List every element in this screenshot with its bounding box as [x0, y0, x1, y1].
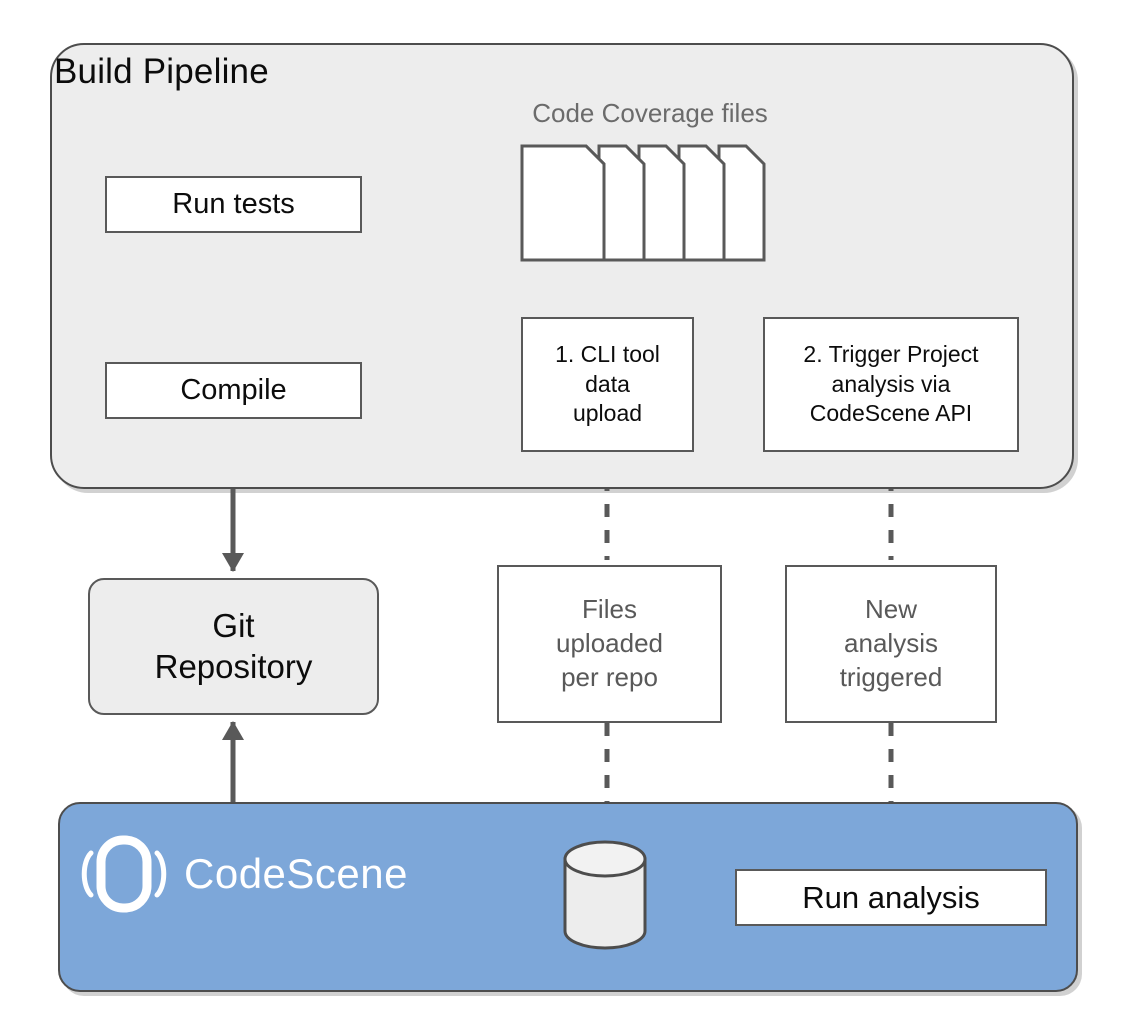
codescene-brand: CodeScene — [78, 828, 408, 920]
node-run-tests[interactable]: Run tests — [105, 176, 362, 233]
node-trigger-project-analysis[interactable]: 2. Trigger Project analysis via CodeScen… — [763, 317, 1019, 452]
codescene-ring-logo-icon — [78, 833, 170, 915]
database-cylinder-icon — [562, 840, 648, 950]
node-trigger-project-analysis-label: 2. Trigger Project analysis via CodeScen… — [803, 340, 978, 430]
node-files-uploaded-per-repo: Files uploaded per repo — [497, 565, 722, 723]
codescene-brand-label: CodeScene — [184, 850, 408, 898]
node-git-repository[interactable]: Git Repository — [88, 578, 379, 715]
node-compile-label: Compile — [180, 374, 286, 407]
node-new-analysis-triggered-label: New analysis triggered — [840, 593, 943, 694]
node-git-repository-label: Git Repository — [155, 606, 313, 688]
node-run-analysis-label: Run analysis — [802, 880, 979, 916]
node-new-analysis-triggered: New analysis triggered — [785, 565, 997, 723]
node-run-analysis[interactable]: Run analysis — [735, 869, 1047, 926]
node-cli-tool-upload-label: 1. CLI tool data upload — [555, 340, 660, 430]
node-cli-tool-upload[interactable]: 1. CLI tool data upload — [521, 317, 694, 452]
build-pipeline-title: Build Pipeline — [54, 52, 269, 92]
code-coverage-files-label: Code Coverage files — [505, 98, 795, 129]
code-coverage-files-stack-icon — [518, 144, 768, 262]
node-files-uploaded-per-repo-label: Files uploaded per repo — [556, 593, 663, 694]
diagram-canvas: Build Pipeline Code Coverage files Run t… — [0, 0, 1134, 1036]
node-compile[interactable]: Compile — [105, 362, 362, 419]
node-run-tests-label: Run tests — [172, 188, 295, 221]
